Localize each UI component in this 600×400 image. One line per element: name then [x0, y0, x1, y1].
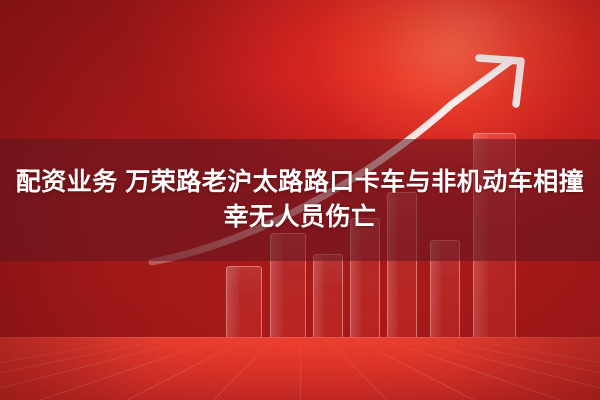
headline-line-1: 配资业务 万荣路老沪太路路口卡车与非机动车相撞 — [10, 168, 590, 198]
headline-line-2: 幸无人员伤亡 — [223, 203, 376, 233]
headline: 配资业务 万荣路老沪太路路口卡车与非机动车相撞 幸无人员伤亡 — [0, 139, 600, 261]
thumbnail-canvas: 配资业务 万荣路老沪太路路口卡车与非机动车相撞 幸无人员伤亡 — [0, 0, 600, 400]
